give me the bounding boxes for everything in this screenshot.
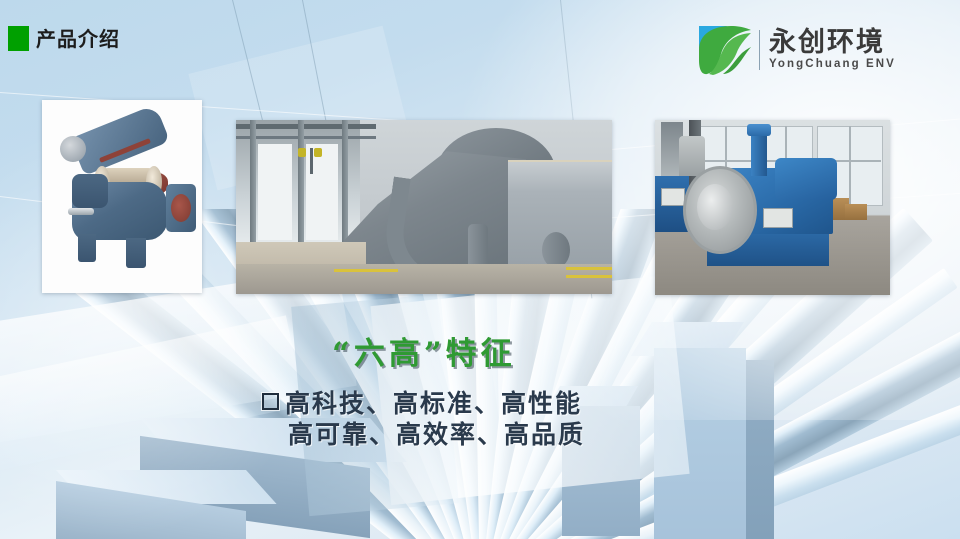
photo-grey-machinery-content (236, 120, 612, 294)
page-title: 产品介绍 (36, 23, 120, 52)
machine-cylinder (542, 232, 570, 268)
logo-divider (759, 30, 760, 70)
slide-canvas: 产品介绍 永创环境 YongChuang ENV (0, 0, 960, 539)
machine-foundation (236, 264, 612, 294)
junction-box (763, 208, 793, 228)
blower-inlet-cap (747, 124, 771, 136)
photo-pump-cutaway-content (42, 100, 202, 293)
crane-hoist-icon (314, 148, 322, 157)
crane-hook (310, 148, 313, 174)
hall-roof-beam (236, 124, 376, 129)
logo-name-en: YongChuang ENV (769, 59, 896, 71)
wooden-crate (845, 204, 867, 220)
feature-heading: “六高”特征 (332, 328, 516, 373)
blower-suction-pipe (679, 136, 705, 176)
control-panel (661, 188, 685, 206)
hollow-square-bullet-icon (262, 393, 279, 410)
pump-foot (126, 238, 146, 268)
feature-line-1: 高科技、高标准、高性能 (262, 388, 682, 419)
safety-rail (566, 267, 612, 270)
pump-discharge-bore (171, 194, 191, 222)
photo-blue-blower-workshop (655, 120, 890, 295)
hall-window (258, 144, 292, 240)
crane-hoist-icon (298, 148, 306, 157)
pump-foot (72, 174, 108, 208)
blower-casing-hub (697, 184, 733, 230)
photo-blue-blower-content (655, 120, 890, 295)
yongchuang-swoosh-logo-icon (697, 24, 753, 76)
feature-line-2: 高可靠、高效率、高品质 (262, 419, 682, 450)
feature-line-1-text: 高科技、高标准、高性能 (285, 389, 582, 418)
safety-rail (334, 269, 398, 272)
pump-shaft (68, 208, 94, 215)
safety-rail (566, 275, 612, 278)
feature-list: 高科技、高标准、高性能 高可靠、高效率、高品质 (262, 388, 682, 450)
logo-name-cn: 永创环境 (769, 29, 896, 56)
slide-header: 产品介绍 永创环境 YongChuang ENV (0, 0, 960, 88)
hall-roof-beam (236, 136, 376, 139)
photo-pump-cutaway (42, 100, 202, 293)
company-logo: 永创环境 YongChuang ENV (697, 22, 896, 78)
green-square-icon (8, 26, 29, 51)
blower-motor (775, 158, 837, 200)
logo-text: 永创环境 YongChuang ENV (769, 29, 896, 71)
pump-foot (78, 234, 96, 262)
photo-grey-machinery-hall (236, 120, 612, 294)
window-mullion (849, 126, 851, 204)
pump-bearing-disc (60, 136, 86, 162)
